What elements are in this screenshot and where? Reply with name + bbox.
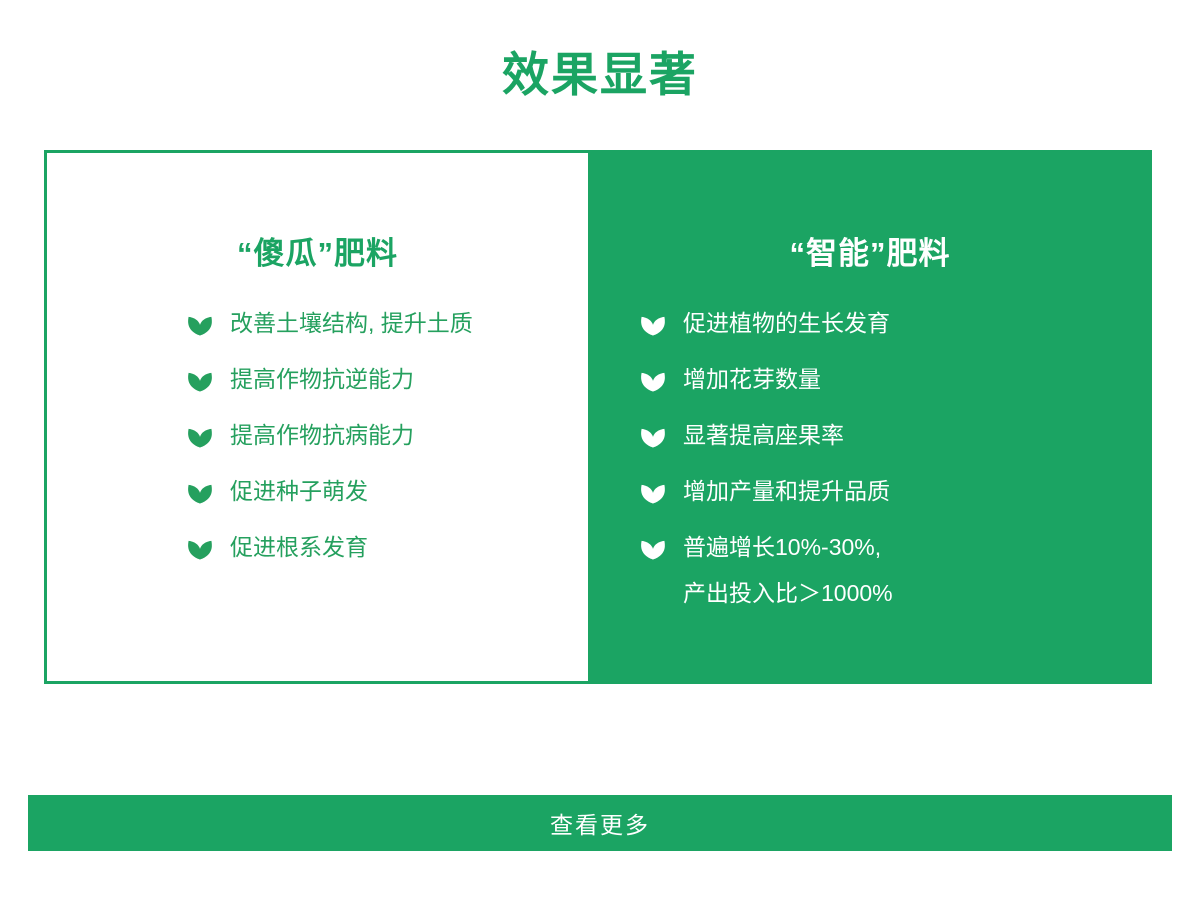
list-item-label: 促进根系发育 xyxy=(230,533,368,563)
slide-root: 效果显著 “傻瓜”肥料 改善土壤结构, 提升土质 xyxy=(0,0,1200,905)
benefit-list-right: 促进植物的生长发育 增加花芽数量 xyxy=(588,309,1152,609)
list-item: 改善土壤结构, 提升土质 xyxy=(187,309,588,339)
list-item-label: 提高作物抗病能力 xyxy=(230,421,414,451)
list-item-label: 增加花芽数量 xyxy=(683,365,821,395)
page-title: 效果显著 xyxy=(0,48,1200,102)
list-item: 促进植物的生长发育 xyxy=(640,309,1152,339)
leaf-sprout-icon xyxy=(640,482,666,504)
comparison-column-right: “智能”肥料 促进植物的生长发育 xyxy=(588,150,1152,684)
leaf-sprout-icon xyxy=(187,314,213,336)
view-more-label: 查看更多 xyxy=(550,806,650,840)
leaf-sprout-icon xyxy=(640,314,666,336)
list-item: 促进种子萌发 xyxy=(187,477,588,507)
list-item: 普遍增长10%-30%, 产出投入比＞1000% xyxy=(640,533,1152,610)
view-more-button[interactable]: 查看更多 xyxy=(28,795,1172,851)
comparison-column-left: “傻瓜”肥料 改善土壤结构, 提升土质 xyxy=(44,150,588,684)
list-item: 提高作物抗逆能力 xyxy=(187,365,588,395)
leaf-sprout-icon xyxy=(187,538,213,560)
leaf-sprout-icon xyxy=(187,482,213,504)
leaf-sprout-icon xyxy=(640,426,666,448)
list-item-label: 促进种子萌发 xyxy=(230,477,368,507)
column-heading-right: “智能”肥料 xyxy=(588,228,1152,273)
list-item-label: 改善土壤结构, 提升土质 xyxy=(230,309,473,339)
leaf-sprout-icon xyxy=(640,538,666,560)
list-item: 显著提高座果率 xyxy=(640,421,1152,451)
list-item: 提高作物抗病能力 xyxy=(187,421,588,451)
list-item-label: 促进植物的生长发育 xyxy=(683,309,890,339)
benefit-list-left: 改善土壤结构, 提升土质 提高作物抗逆能力 xyxy=(47,309,588,562)
leaf-sprout-icon xyxy=(187,370,213,392)
list-item: 促进根系发育 xyxy=(187,533,588,563)
leaf-sprout-icon xyxy=(640,370,666,392)
list-item: 增加花芽数量 xyxy=(640,365,1152,395)
leaf-sprout-icon xyxy=(187,426,213,448)
comparison-panel: “傻瓜”肥料 改善土壤结构, 提升土质 xyxy=(44,150,1152,684)
list-item-label: 提高作物抗逆能力 xyxy=(230,365,414,395)
list-item: 增加产量和提升品质 xyxy=(640,477,1152,507)
column-heading-left: “傻瓜”肥料 xyxy=(47,228,588,273)
list-item-label-line2: 产出投入比＞1000% xyxy=(683,579,893,609)
list-item-label: 增加产量和提升品质 xyxy=(683,477,890,507)
list-item-label: 普遍增长10%-30%, xyxy=(683,534,881,560)
list-item-label: 显著提高座果率 xyxy=(683,421,844,451)
